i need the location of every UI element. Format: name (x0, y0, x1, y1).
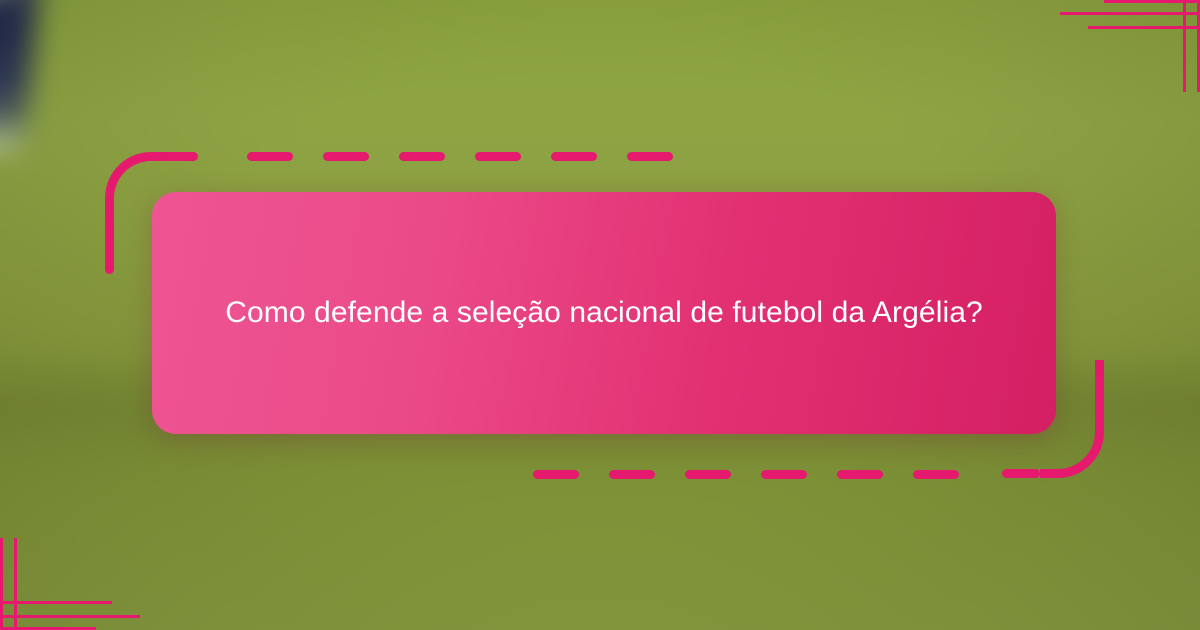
bracket-top-left-cap (105, 265, 114, 274)
dash-segment (551, 152, 597, 161)
corner-ornament-top-right (1040, 0, 1200, 92)
dashed-line-bottom (533, 470, 959, 479)
dash-segment (475, 152, 521, 161)
dash-segment (761, 470, 807, 479)
dash-segment (609, 470, 655, 479)
dashed-line-top (247, 152, 673, 161)
dash-segment (533, 470, 579, 479)
dash-segment (837, 470, 883, 479)
dash-segment (627, 152, 673, 161)
question-card: Como defende a seleção nacional de futeb… (152, 192, 1056, 434)
dash-segment (913, 470, 959, 479)
corner-ornament-bottom-left (0, 538, 160, 630)
question-text: Como defende a seleção nacional de futeb… (225, 289, 983, 338)
bracket-bottom-right-stub (1002, 469, 1040, 478)
quote-card-graphic: Como defende a seleção nacional de futeb… (0, 0, 1200, 630)
dash-segment (247, 152, 293, 161)
dash-segment (323, 152, 369, 161)
bracket-bottom-right-cap (1095, 360, 1104, 369)
dash-segment (685, 470, 731, 479)
dash-segment (399, 152, 445, 161)
bracket-top-left-stub (160, 152, 198, 161)
